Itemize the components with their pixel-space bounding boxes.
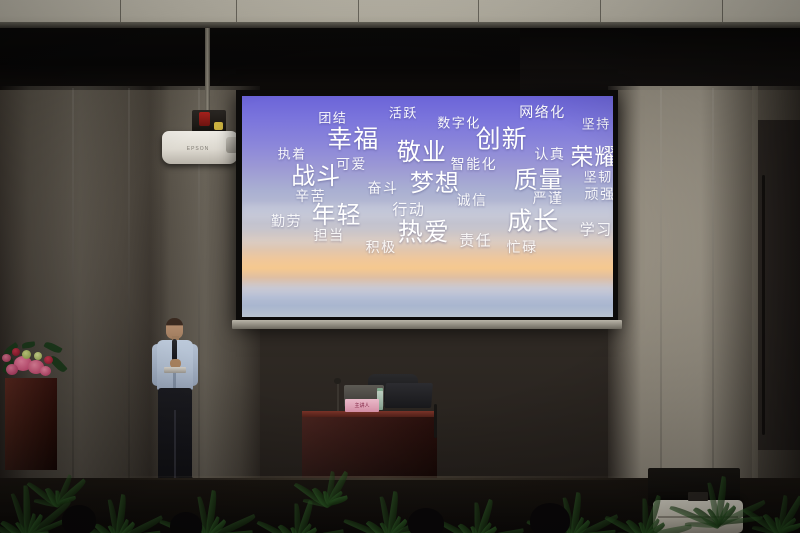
table-microphone-icon [334, 378, 341, 384]
word-cloud-term: 成长 [507, 208, 559, 233]
projector-brand-label: EPSON [178, 146, 218, 152]
word-cloud-term: 坚持 [582, 118, 611, 131]
flower-arrangement [0, 340, 72, 386]
word-cloud-term: 积极 [366, 241, 397, 255]
word-cloud-term: 奋斗 [367, 182, 398, 196]
word-cloud-term: 行动 [392, 202, 425, 217]
handheld-microphone-icon [172, 339, 177, 361]
stage-floor-edge [100, 476, 660, 480]
word-cloud-term: 认真 [534, 148, 565, 162]
water-bottle-cap [377, 388, 383, 391]
audience-head [530, 503, 570, 533]
nameplate: 主讲人 [345, 399, 379, 412]
word-cloud-term: 荣耀 [570, 146, 613, 169]
word-cloud-term: 热爱 [398, 219, 450, 244]
presenter-notes [164, 367, 186, 373]
word-cloud-term: 数字化 [437, 117, 481, 130]
projector-bracket-clamp [199, 112, 210, 126]
word-cloud-term: 严谨 [533, 192, 564, 206]
stage-curtain-right [608, 86, 758, 490]
word-cloud-term: 忙碌 [507, 241, 538, 255]
audience-head [408, 508, 444, 533]
projector-mount-pole [205, 28, 210, 116]
word-cloud-term: 质量 [514, 168, 564, 192]
word-cloud-term: 年轻 [312, 203, 362, 227]
wall-trim [762, 175, 765, 435]
projected-slide: 团结活跃数字化网络化坚持幸福创新敬业执着认真荣耀可爱智能化战斗质量坚韧梦想奋斗辛… [242, 96, 613, 317]
word-cloud-term: 诚信 [457, 194, 488, 208]
projection-screen-bottom-bar [232, 320, 622, 329]
power-cable [434, 404, 437, 438]
word-cloud-term: 勤劳 [271, 215, 302, 229]
word-cloud-term: 战斗 [291, 164, 341, 188]
projector-cable-tag [214, 122, 223, 130]
word-cloud-term: 学习 [580, 222, 613, 237]
word-cloud-term: 坚韧 [584, 171, 613, 184]
word-cloud-term: 责任 [459, 233, 492, 248]
word-cloud-term: 梦想 [410, 171, 460, 195]
laptop-computer[interactable] [384, 383, 433, 408]
word-cloud-term: 幸福 [327, 127, 379, 152]
equipment-case-label [688, 492, 708, 501]
word-cloud-term: 顽强 [585, 188, 614, 202]
nameplate-text: 主讲人 [354, 402, 369, 409]
conference-hall-scene: EPSON 团结活跃数字化网络化坚持幸福创新敬业执着认真荣耀可爱智能化战斗质量坚… [0, 0, 800, 533]
table-microphone-stand [337, 381, 339, 411]
lectern-highlight [5, 378, 57, 470]
word-cloud-term: 担当 [314, 229, 345, 243]
curtain-fold [72, 88, 74, 488]
curtain-fold [712, 88, 714, 488]
audience-head [62, 505, 96, 533]
word-cloud-term: 敬业 [397, 140, 447, 164]
audience-head [170, 512, 202, 533]
word-cloud-term: 网络化 [519, 106, 566, 120]
curtain-fold [660, 88, 662, 488]
word-cloud-term: 创新 [476, 127, 528, 152]
presenter-trouser-seam [174, 410, 176, 480]
word-cloud-term: 执着 [278, 148, 307, 161]
projection-screen-frame: 团结活跃数字化网络化坚持幸福创新敬业执着认真荣耀可爱智能化战斗质量坚韧梦想奋斗辛… [236, 90, 618, 324]
curtain-fold [128, 88, 130, 488]
word-cloud-term: 活跃 [389, 107, 418, 120]
